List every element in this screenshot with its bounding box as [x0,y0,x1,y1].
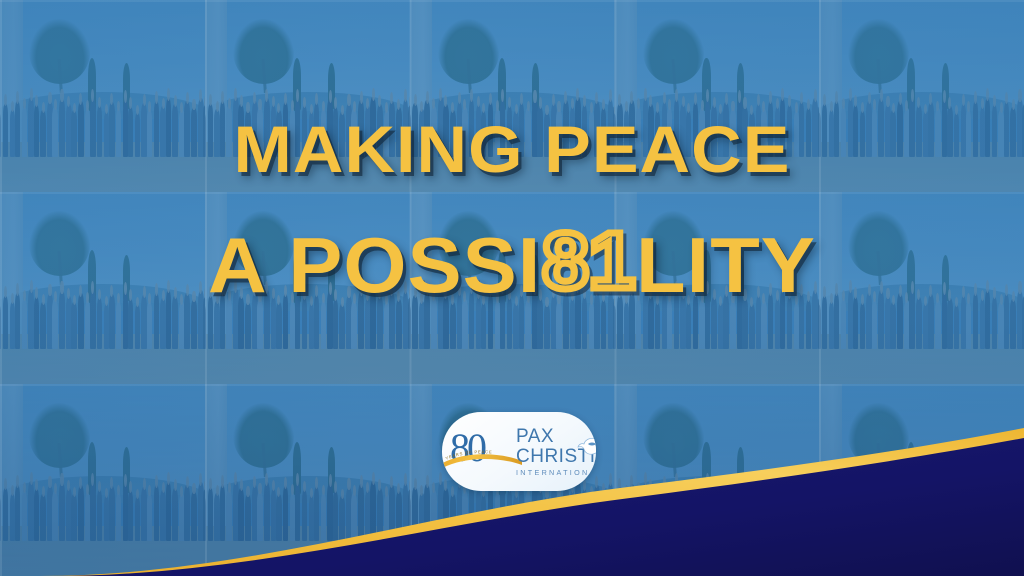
anniversary-digits: 8 1 [542,223,635,299]
dove-icon [575,436,596,458]
headline-line-1: MAKING PEACE [0,118,1024,181]
logo-international: INTERNATIONAL [516,469,596,476]
headline-line-2-prefix: A POSSI [208,228,541,302]
logo-wordmark: PAX CHRISTI INTERNATIONAL [516,427,596,476]
headline-line-2: A POSSI 8 1 LITY [0,227,1024,303]
digit-8: 8 [542,223,588,299]
headline-block: MAKING PEACE A POSSI 8 1 LITY [0,118,1024,303]
anniversary-mark: 80 YEARS OF PEACE [442,412,516,491]
poster-canvas: MAKING PEACE A POSSI 8 1 LITY 80 [0,0,1024,576]
digit-1: 1 [589,223,635,299]
headline-line-2-suffix: LITY [636,228,816,302]
swoosh-icon: YEARS OF PEACE [442,448,524,474]
pax-christi-logo-badge: 80 YEARS OF PEACE PAX CHRISTI [442,412,596,491]
